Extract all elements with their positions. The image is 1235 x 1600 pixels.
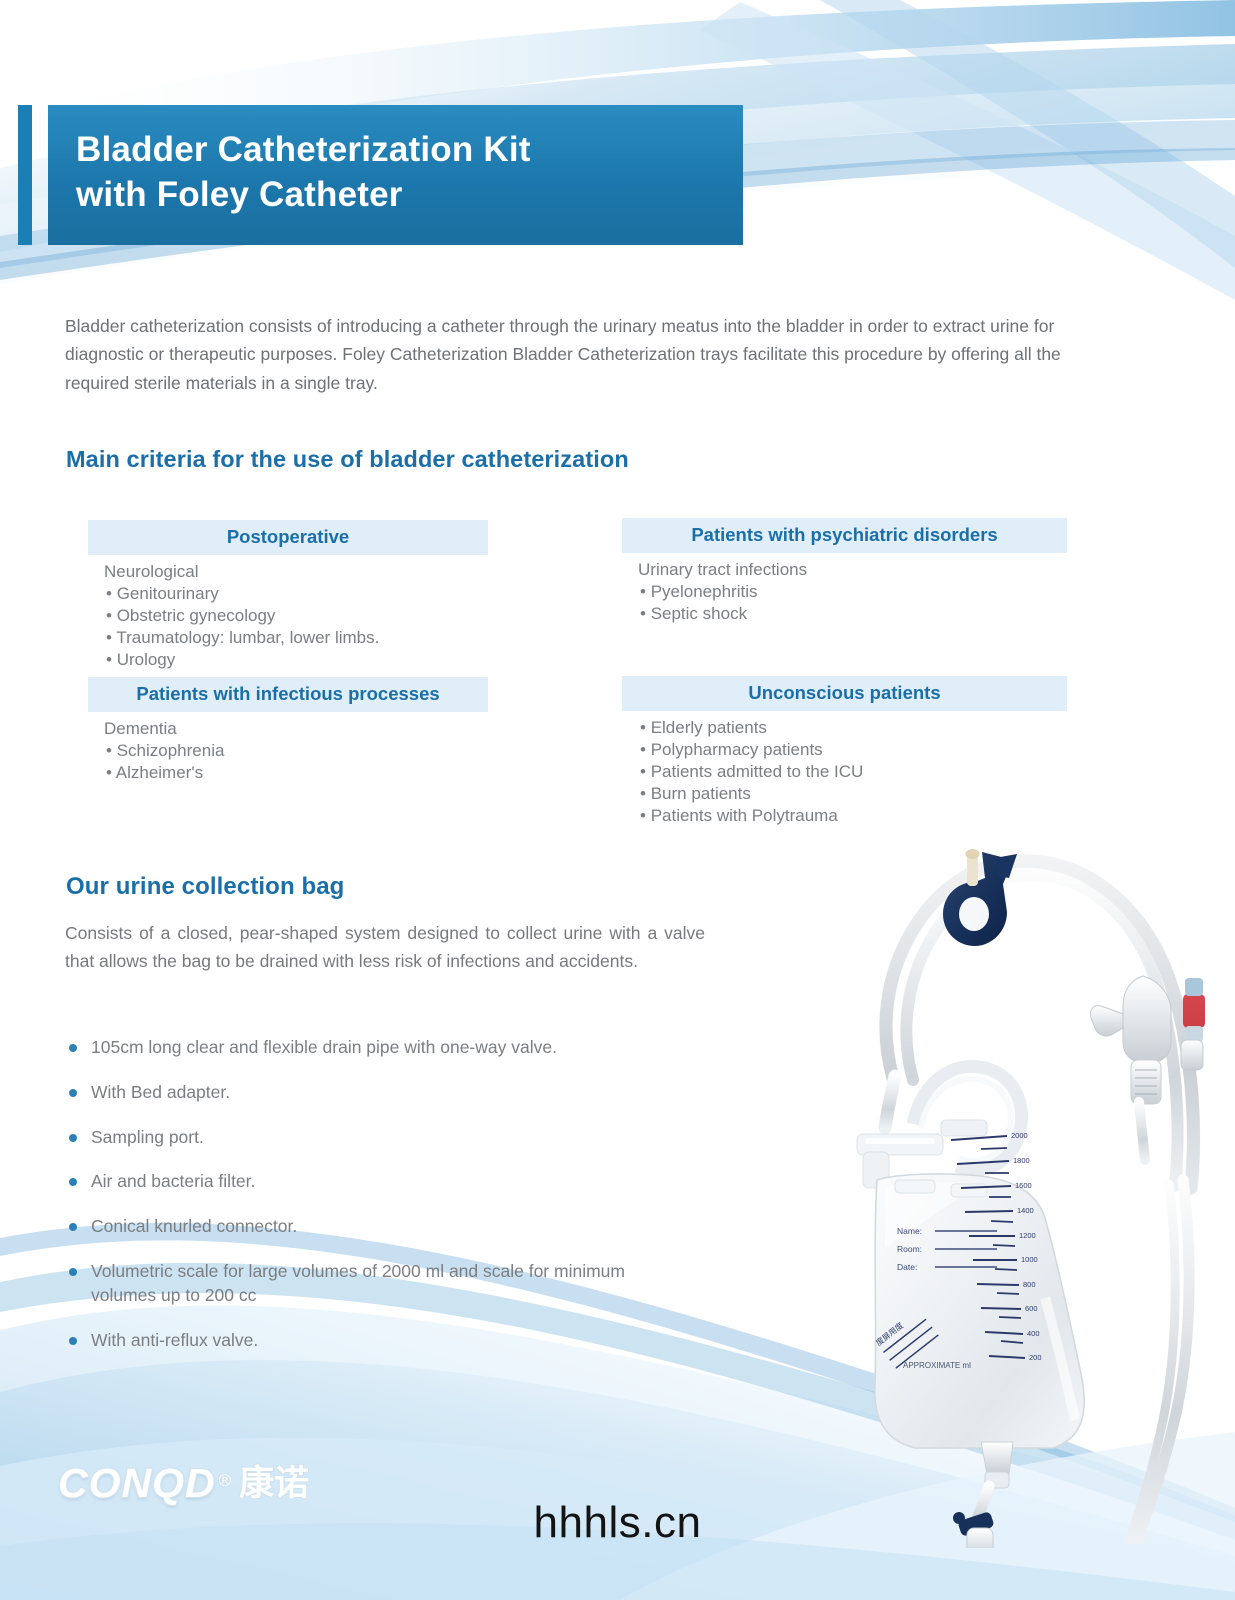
scale-label: 200	[1029, 1353, 1042, 1362]
criteria-lead: Dementia	[104, 718, 488, 740]
sampling-port	[1090, 976, 1171, 1160]
criteria-item-label: Obstetric gynecology	[117, 606, 276, 625]
anti-reflux-valve	[1181, 1040, 1203, 1070]
criteria-lead: Urinary tract infections	[638, 559, 1067, 581]
criteria-item: • Urology	[106, 649, 488, 671]
criteria-card-infectious-processes: Patients with infectious processes Demen…	[88, 677, 488, 784]
scale-label: 1600	[1015, 1181, 1032, 1190]
criteria-item-label: Polypharmacy patients	[651, 740, 823, 759]
criteria-item: • Schizophrenia	[106, 740, 488, 762]
criteria-card-psychiatric-disorders: Patients with psychiatric disorders Urin…	[622, 518, 1067, 625]
criteria-item: • Pyelonephritis	[640, 581, 1067, 603]
feature-item: With anti-reflux valve.	[66, 1329, 686, 1353]
feature-item: 105cm long clear and flexible drain pipe…	[66, 1036, 686, 1060]
feature-item: Sampling port.	[66, 1126, 686, 1150]
scale-label: 600	[1025, 1304, 1038, 1313]
title-accent-bar	[18, 105, 32, 245]
criteria-item: • Genitourinary	[106, 583, 488, 605]
criteria-card-body: Dementia • Schizophrenia • Alzheimer's	[88, 712, 488, 784]
criteria-item: • Patients admitted to the ICU	[640, 761, 1067, 783]
urine-bag-illustration: Name: Room: Date: 度屏用度	[745, 828, 1220, 1548]
feature-item: Air and bacteria filter.	[66, 1170, 686, 1194]
title-spacer	[32, 105, 48, 245]
intro-paragraph: Bladder catheterization consists of intr…	[65, 312, 1107, 397]
criteria-item-label: Elderly patients	[651, 718, 767, 737]
page-title-line-1: Bladder Catheterization Kit	[76, 128, 719, 173]
criteria-item-label: Alzheimer's	[116, 763, 203, 782]
criteria-item: • Traumatology: lumbar, lower limbs.	[106, 627, 488, 649]
feature-item: Conical knurled connector.	[66, 1215, 686, 1239]
scale-label: 1800	[1013, 1156, 1030, 1165]
scale-caption: APPROXIMATE ml	[903, 1361, 971, 1370]
scale-label: 1000	[1021, 1255, 1038, 1264]
bag-inlet-tube	[885, 1076, 895, 1128]
criteria-card-postoperative: Postoperative Neurological • Genitourina…	[88, 520, 488, 671]
criteria-item-label: Genitourinary	[117, 584, 219, 603]
scale-label: 1200	[1019, 1231, 1036, 1240]
criteria-card-title: Postoperative	[88, 520, 488, 555]
criteria-item: • Polypharmacy patients	[640, 739, 1067, 761]
criteria-item: • Obstetric gynecology	[106, 605, 488, 627]
criteria-item-label: Patients admitted to the ICU	[651, 762, 864, 781]
scale-label: 400	[1027, 1329, 1040, 1338]
criteria-card-title: Patients with psychiatric disorders	[622, 518, 1067, 553]
criteria-item: • Alzheimer's	[106, 762, 488, 784]
bag-section-heading: Our urine collection bag	[66, 873, 344, 901]
page-title-block: Bladder Catheterization Kit with Foley C…	[18, 105, 743, 245]
criteria-lead: Neurological	[104, 561, 488, 583]
bag-description: Consists of a closed, pear-shaped system…	[65, 920, 705, 975]
criteria-item-label: Schizophrenia	[117, 741, 225, 760]
criteria-section-heading: Main criteria for the use of bladder cat…	[66, 446, 629, 473]
criteria-card-body: Neurological • Genitourinary • Obstetric…	[88, 555, 488, 671]
title-panel: Bladder Catheterization Kit with Foley C…	[48, 105, 743, 245]
criteria-item-label: Septic shock	[651, 604, 747, 623]
criteria-item-label: Urology	[117, 650, 176, 669]
scale-label: 2000	[1011, 1131, 1028, 1140]
criteria-item-label: Patients with Polytrauma	[651, 806, 838, 825]
bag-label-date: Date:	[897, 1262, 917, 1272]
criteria-item-label: Burn patients	[651, 784, 751, 803]
criteria-card-body: • Elderly patients • Polypharmacy patien…	[622, 711, 1067, 827]
criteria-item: • Elderly patients	[640, 717, 1067, 739]
scale-label: 800	[1023, 1280, 1036, 1289]
criteria-item: • Septic shock	[640, 603, 1067, 625]
registered-trademark-icon: ®	[219, 1471, 232, 1491]
criteria-item-label: Traumatology: lumbar, lower limbs.	[116, 628, 379, 647]
bag-label-room: Room:	[897, 1244, 922, 1254]
bag-feature-list: 105cm long clear and flexible drain pipe…	[66, 1036, 686, 1373]
red-connector	[1183, 978, 1205, 1042]
criteria-item-label: Pyelonephritis	[651, 582, 758, 601]
page-watermark: hhhls.cn	[0, 1498, 1235, 1548]
feature-item: Volumetric scale for large volumes of 20…	[66, 1260, 686, 1308]
criteria-card-title: Patients with infectious processes	[88, 677, 488, 712]
criteria-item: • Burn patients	[640, 783, 1067, 805]
scale-label: 1400	[1017, 1206, 1034, 1215]
bag-label-name: Name:	[897, 1226, 922, 1236]
criteria-card-body: Urinary tract infections • Pyelonephriti…	[622, 553, 1067, 625]
criteria-card-unconscious-patients: Unconscious patients • Elderly patients …	[622, 676, 1067, 827]
criteria-card-title: Unconscious patients	[622, 676, 1067, 711]
product-photo-urine-collection-bag: Name: Room: Date: 度屏用度	[745, 828, 1220, 1548]
feature-item: With Bed adapter.	[66, 1081, 686, 1105]
criteria-item: • Patients with Polytrauma	[640, 805, 1067, 827]
page-title-line-2: with Foley Catheter	[76, 173, 719, 218]
